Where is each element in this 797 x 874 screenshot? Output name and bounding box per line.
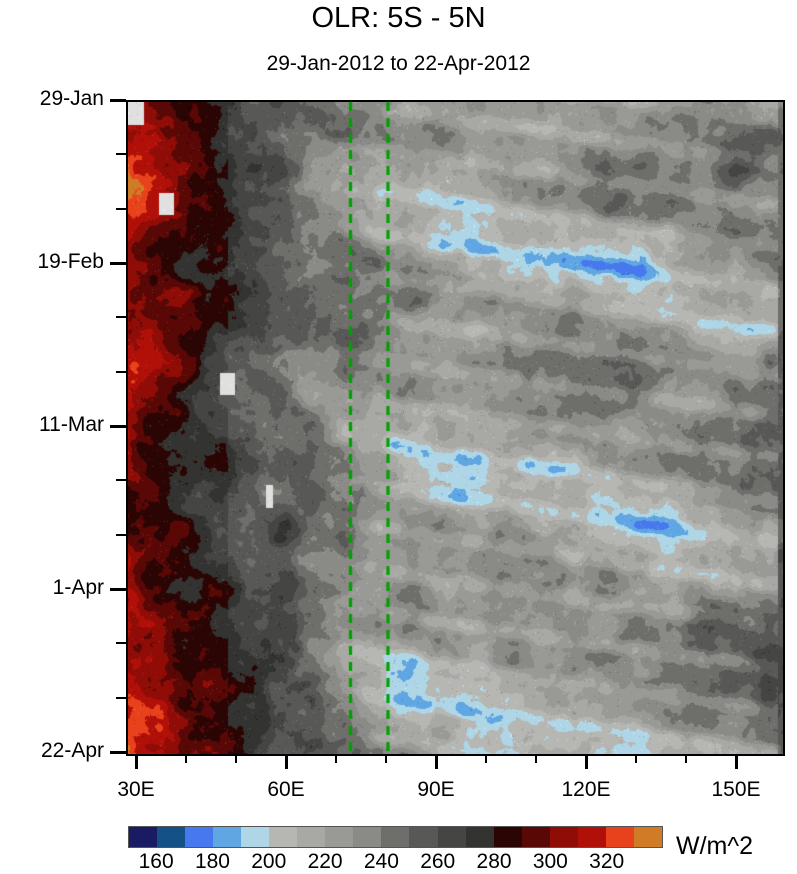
- y-axis-major-tick: [110, 588, 126, 591]
- colorbar-segment: [213, 827, 241, 847]
- colorbar-segment: [578, 827, 606, 847]
- colorbar-tick-label: 280: [464, 850, 524, 874]
- y-axis-minor-tick: [116, 479, 126, 481]
- colorbar-segment: [634, 827, 662, 847]
- colorbar-tick-label: 180: [182, 850, 242, 874]
- x-axis-major-tick: [285, 754, 288, 769]
- x-axis-minor-tick: [485, 754, 487, 763]
- y-axis-minor-tick: [116, 371, 126, 373]
- x-axis-minor-tick: [385, 754, 387, 763]
- colorbar-segment: [325, 827, 353, 847]
- y-axis-minor-tick: [116, 316, 126, 318]
- chart-subtitle: 29-Jan-2012 to 22-Apr-2012: [0, 52, 797, 76]
- colorbar-segment: [129, 827, 157, 847]
- colorbar-tick-label: 160: [126, 850, 186, 874]
- y-axis-major-tick: [110, 751, 126, 754]
- y-axis-tick-label: 19-Feb: [0, 250, 104, 274]
- x-axis-minor-tick: [235, 754, 237, 763]
- x-axis-tick-label: 120E: [546, 778, 626, 802]
- colorbar-tick-label: 320: [577, 850, 637, 874]
- colorbar-tick-label: 260: [408, 850, 468, 874]
- colorbar-tick-label: 220: [295, 850, 355, 874]
- colorbar-segment: [409, 827, 437, 847]
- y-axis-major-tick: [110, 99, 126, 102]
- colorbar: [128, 826, 663, 848]
- page-title: OLR: 5S - 5N: [0, 2, 797, 35]
- x-axis-minor-tick: [185, 754, 187, 763]
- colorbar-tick-label: 300: [520, 850, 580, 874]
- y-axis-tick-label: 11-Mar: [0, 413, 104, 437]
- colorbar-segment: [353, 827, 381, 847]
- x-axis-tick-label: 60E: [246, 778, 326, 802]
- x-axis-minor-tick: [335, 754, 337, 763]
- y-axis-major-tick: [110, 425, 126, 428]
- colorbar-segment: [185, 827, 213, 847]
- colorbar-segment: [494, 827, 522, 847]
- colorbar-tick-label: 240: [351, 850, 411, 874]
- y-axis-minor-tick: [116, 642, 126, 644]
- colorbar-segment: [550, 827, 578, 847]
- x-axis-major-tick: [135, 754, 138, 769]
- y-axis-minor-tick: [116, 208, 126, 210]
- colorbar-segment: [241, 827, 269, 847]
- colorbar-segment: [522, 827, 550, 847]
- x-axis-tick-label: 150E: [696, 778, 776, 802]
- x-axis-minor-tick: [535, 754, 537, 763]
- olr-heatmap-canvas: [128, 102, 783, 754]
- x-axis-minor-tick: [685, 754, 687, 763]
- x-axis-tick-label: 90E: [396, 778, 476, 802]
- colorbar-tick-label: 200: [239, 850, 299, 874]
- y-axis-tick-label: 29-Jan: [0, 87, 104, 111]
- colorbar-segment: [438, 827, 466, 847]
- colorbar-segment: [157, 827, 185, 847]
- y-axis-minor-tick: [116, 534, 126, 536]
- y-axis-minor-tick: [116, 697, 126, 699]
- x-axis-tick-label: 30E: [96, 778, 176, 802]
- colorbar-segment: [606, 827, 634, 847]
- x-axis-major-tick: [735, 754, 738, 769]
- colorbar-segment: [466, 827, 494, 847]
- x-axis-major-tick: [585, 754, 588, 769]
- y-axis-tick-label: 1-Apr: [0, 576, 104, 600]
- hovmoller-plot-area: [126, 100, 785, 756]
- colorbar-segment: [297, 827, 325, 847]
- x-axis-major-tick: [435, 754, 438, 769]
- x-axis-minor-tick: [635, 754, 637, 763]
- y-axis-major-tick: [110, 262, 126, 265]
- colorbar-segment: [381, 827, 409, 847]
- colorbar-segment: [269, 827, 297, 847]
- y-axis-minor-tick: [116, 153, 126, 155]
- colorbar-units-label: W/m^2: [676, 832, 753, 861]
- y-axis-tick-label: 22-Apr: [0, 739, 104, 763]
